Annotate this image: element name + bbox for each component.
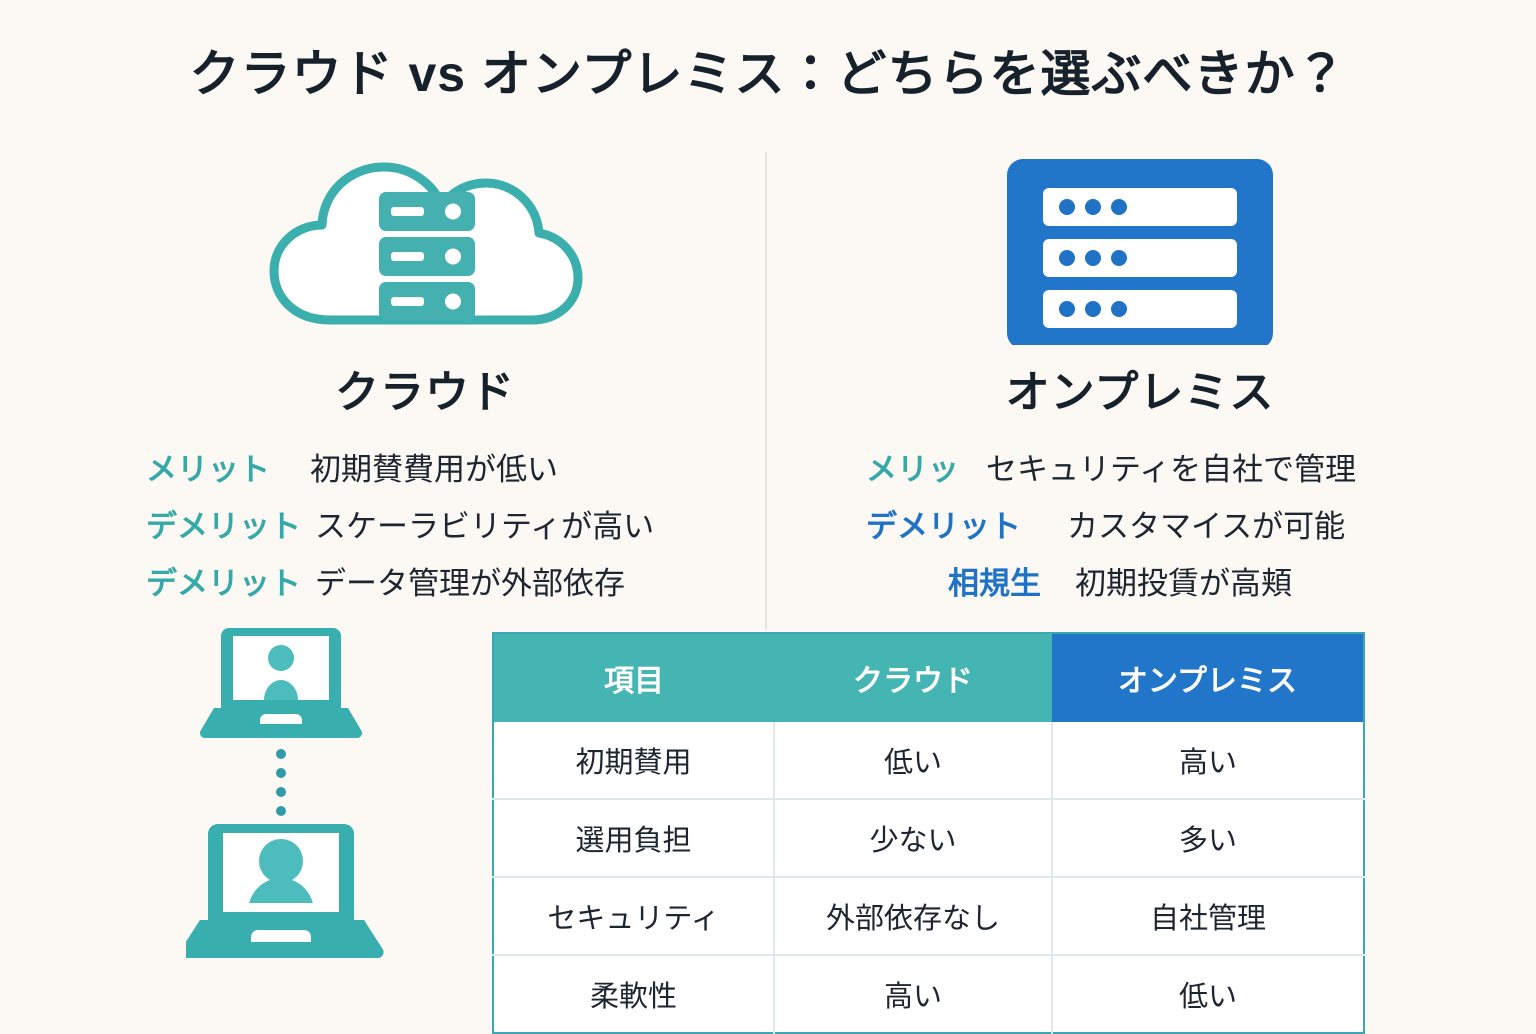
table-row: 選用負担 少ない 多い	[493, 799, 1364, 877]
table-cell-cloud: 少ない	[774, 799, 1052, 877]
table-cell-cloud: 高い	[774, 955, 1052, 1033]
list-item-tag: デメリット	[146, 558, 301, 603]
table-cell-item: 柔軟性	[493, 955, 774, 1033]
table-row: セキュリティ 外部依存なし 自社管理	[493, 877, 1364, 955]
table-cell-item: 初期賛用	[493, 722, 774, 799]
table-row: 初期賛用 低い 高い	[493, 722, 1364, 799]
list-item-tag: 相規生	[911, 558, 1041, 603]
column-onpremise: オンプレミス メリッ セキュリティを自社で管理 デメリット カスタマイスが可能 …	[790, 140, 1490, 603]
infographic-canvas: クラウド vs オンプレミス：どちらを選ぶべきか？	[0, 0, 1536, 1024]
list-item: メリット 初期賛費用が低い	[100, 444, 750, 489]
connection-dots	[276, 749, 286, 816]
list-item: 相規生 初期投賃が高頬	[790, 558, 1490, 603]
table-cell-cloud: 低い	[774, 722, 1052, 799]
list-item: デメリット スケーラビリティが高い	[100, 501, 750, 546]
list-item: デメリット カスタマイスが可能	[790, 501, 1490, 546]
list-item-tag: メリット	[146, 444, 296, 489]
comparison-table: 項目 クラウド オンプレミス 初期賛用 低い 高い 選用負担 少ない 多い セキ…	[492, 632, 1365, 1034]
table-header-row: 項目 クラウド オンプレミス	[493, 633, 1364, 722]
column-heading-cloud: クラウド	[100, 356, 750, 420]
laptop-top-icon	[200, 628, 362, 738]
onpremise-benefit-list: メリッ セキュリティを自社で管理 デメリット カスタマイスが可能 相規生 初期投…	[790, 444, 1490, 603]
table-cell-item: セキュリティ	[493, 877, 774, 955]
table-header-cloud: クラウド	[774, 633, 1052, 722]
table-header-item: 項目	[493, 633, 774, 722]
page-title: クラウド vs オンプレミス：どちらを選ぶべきか？	[0, 34, 1536, 106]
cloud-benefit-list: メリット 初期賛費用が低い デメリット スケーラビリティが高い デメリット デー…	[100, 444, 750, 603]
table-row: 柔軟性 高い 低い	[493, 955, 1364, 1033]
cloud-server-icon	[100, 140, 750, 350]
table-cell-onpremise: 自社管理	[1052, 877, 1364, 955]
list-item-value: データ管理が外部依存	[315, 558, 625, 603]
table-header-onpremise: オンプレミス	[1052, 633, 1364, 722]
column-heading-onpremise: オンプレミス	[790, 356, 1490, 420]
column-divider	[765, 152, 767, 630]
server-rack-icon	[790, 140, 1490, 350]
list-item-value: 初期賛費用が低い	[310, 444, 558, 489]
list-item-tag: デメリット	[866, 501, 1041, 546]
list-item-value: カスタマイスが可能	[1067, 501, 1345, 546]
list-item-value: スケーラビリティが高い	[315, 501, 654, 546]
two-laptops-connected-illustration	[186, 618, 416, 993]
table-cell-onpremise: 低い	[1052, 955, 1364, 1033]
column-cloud: クラウド メリット 初期賛費用が低い デメリット スケーラビリティが高い デメリ…	[100, 140, 750, 603]
laptop-bottom-icon	[186, 824, 384, 958]
list-item: デメリット データ管理が外部依存	[100, 558, 750, 603]
table-cell-onpremise: 多い	[1052, 799, 1364, 877]
table-cell-item: 選用負担	[493, 799, 774, 877]
list-item-tag: メリッ	[866, 444, 986, 489]
table-cell-onpremise: 高い	[1052, 722, 1364, 799]
table-cell-cloud: 外部依存なし	[774, 877, 1052, 955]
list-item-value: 初期投賃が高頬	[1075, 558, 1292, 603]
list-item-tag: デメリット	[146, 501, 301, 546]
list-item: メリッ セキュリティを自社で管理	[790, 444, 1490, 489]
list-item-value: セキュリティを自社で管理	[986, 444, 1356, 489]
